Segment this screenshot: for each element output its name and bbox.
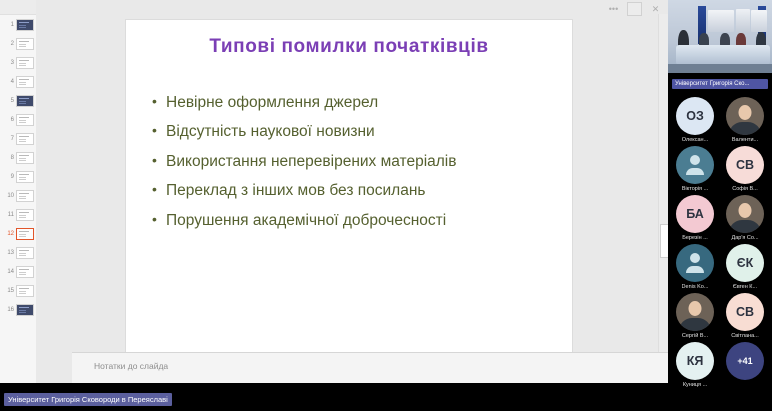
slide-thumbnail-item[interactable]: 4	[0, 72, 36, 91]
slide-number: 10	[2, 193, 14, 199]
slide-number: 2	[2, 41, 14, 47]
slide-thumbnail-strip[interactable]: 12345678910111213141516	[0, 0, 37, 383]
active-speaker-name-label: Університет Григорія Сковороди в Переясл…	[4, 393, 172, 406]
slide-thumbnail-preview[interactable]	[16, 38, 34, 50]
slide-number: 8	[2, 155, 14, 161]
slide-bullet: •Переклад з інших мов без посилань	[152, 180, 558, 201]
participant-name: Софія В...	[732, 186, 758, 192]
participant-name: Дар'я Со...	[731, 235, 758, 241]
slide-thumbnail-preview[interactable]	[16, 152, 34, 164]
slide-thumbnail-preview[interactable]	[16, 57, 34, 69]
banner-right	[751, 10, 767, 32]
canvas-window-controls[interactable]: ••• ✕	[607, 2, 662, 16]
slide-thumbnail-item[interactable]: 6	[0, 110, 36, 129]
bullet-dot-icon: •	[152, 210, 166, 229]
participant-tile[interactable]: Дар'я Со...	[720, 195, 770, 241]
slide-bullet: •Порушення академічної доброчесності	[152, 210, 558, 231]
slide-number: 1	[2, 22, 14, 28]
active-speaker-video-tile[interactable]	[668, 0, 772, 73]
bullet-dot-icon: •	[152, 151, 166, 170]
participant-name: Олексан...	[682, 137, 708, 143]
participant-tile[interactable]: КЯКуниця ...	[670, 342, 720, 388]
slide-thumbnail-preview[interactable]	[16, 95, 34, 107]
person-silhouette-icon[interactable]	[676, 244, 714, 282]
slide-thumbnail-preview[interactable]	[16, 247, 34, 259]
slide-number: 16	[2, 307, 14, 313]
slide-thumbnail-item[interactable]: 13	[0, 243, 36, 262]
slide-number: 6	[2, 117, 14, 123]
bullet-text: Переклад з інших мов без посилань	[166, 180, 558, 201]
overflow-count-avatar[interactable]: +41	[726, 342, 764, 380]
scrollbar-thumb[interactable]	[660, 224, 668, 258]
slide-thumbnail-item[interactable]: 10	[0, 186, 36, 205]
close-icon[interactable]: ✕	[649, 3, 662, 15]
slide-thumbnail-item[interactable]: 3	[0, 53, 36, 72]
slide-title: Типові помилки початківців	[126, 36, 572, 58]
participant-initials-avatar[interactable]: ЄК	[726, 244, 764, 282]
participant-name: Валенти...	[732, 137, 758, 143]
slide-number: 7	[2, 136, 14, 142]
slide-thumbnail-preview[interactable]	[16, 133, 34, 145]
participant-name: Сергій В...	[682, 333, 708, 339]
participant-initials-avatar[interactable]: ОЗ	[676, 97, 714, 135]
slide-thumbnail-item[interactable]: 9	[0, 167, 36, 186]
slide-canvas[interactable]: Типові помилки початківців •Невірне офор…	[126, 20, 572, 352]
presentation-editor: 12345678910111213141516 ••• ✕ Типові пом…	[0, 0, 668, 383]
slide-number: 11	[2, 212, 14, 218]
participant-name: Куниця ...	[683, 382, 707, 388]
slide-bullet: •Невірне оформлення джерел	[152, 92, 558, 113]
participants-panel: Університет Григорія Ско... ОЗОлексан...…	[668, 0, 772, 411]
org-name-badge: Університет Григорія Ско...	[672, 79, 768, 89]
slide-thumbnail-item[interactable]: 8	[0, 148, 36, 167]
slide-thumbnail-preview[interactable]	[16, 190, 34, 202]
participant-name: Березін ...	[682, 235, 708, 241]
slide-thumbnail-preview[interactable]	[16, 209, 34, 221]
slide-number: 9	[2, 174, 14, 180]
participant-tile[interactable]: Вікторія ...	[670, 146, 720, 192]
avatar-face	[689, 301, 702, 316]
bullet-dot-icon: •	[152, 180, 166, 199]
participant-name: Євген К...	[733, 284, 757, 290]
slide-bullet: •Відсутність наукової новизни	[152, 121, 558, 142]
bullet-text: Використання неперевірених матеріалів	[166, 151, 558, 172]
meeting-screen-share-window: 12345678910111213141516 ••• ✕ Типові пом…	[0, 0, 772, 411]
video-floor	[668, 64, 772, 73]
participant-initials-avatar[interactable]: СВ	[726, 293, 764, 331]
slide-thumbnail-preview[interactable]	[16, 171, 34, 183]
slide-thumbnail-preview[interactable]	[16, 19, 34, 31]
banner-left	[708, 10, 734, 32]
participant-tile[interactable]: БАБерезін ...	[670, 195, 720, 241]
participant-name: Світлана...	[731, 333, 758, 339]
slide-thumbnail-item[interactable]: 11	[0, 205, 36, 224]
bullet-dot-icon: •	[152, 121, 166, 140]
participant-photo-avatar[interactable]	[726, 195, 764, 233]
avatar-shoulders	[679, 318, 711, 331]
more-options-icon[interactable]: •••	[607, 3, 620, 15]
participant-photo-avatar[interactable]	[676, 293, 714, 331]
slide-number: 5	[2, 98, 14, 104]
slide-number: 14	[2, 269, 14, 275]
participant-name: Вікторія ...	[682, 186, 708, 192]
slide-bullet-list: •Невірне оформлення джерел•Відсутність н…	[152, 92, 558, 239]
participant-grid: ОЗОлексан...Валенти...Вікторія ...СВСофі…	[668, 91, 772, 388]
participant-tile[interactable]: СВСвітлана...	[720, 293, 770, 339]
bullet-dot-icon: •	[152, 92, 166, 111]
participant-tile[interactable]: Валенти...	[720, 97, 770, 143]
silhouette-head	[690, 155, 700, 165]
silhouette-head	[690, 253, 700, 263]
speaker-notes-placeholder: Нотатки до слайда	[94, 361, 168, 371]
slide-thumbnail-item[interactable]: 15	[0, 281, 36, 300]
slide-bullet: •Використання неперевірених матеріалів	[152, 151, 558, 172]
participant-tile[interactable]: ОЗОлексан...	[670, 97, 720, 143]
speaker-notes-pane[interactable]: Нотатки до слайда	[72, 352, 668, 383]
bottom-bar: Університет Григорія Сковороди в Переясл…	[0, 383, 668, 411]
participant-name: Denis Ko...	[682, 284, 709, 290]
restore-window-icon[interactable]	[627, 2, 642, 16]
slide-thumbnail-item[interactable]: 1	[0, 15, 36, 34]
slide-thumbnail-item[interactable]: 2	[0, 34, 36, 53]
bullet-text: Невірне оформлення джерел	[166, 92, 558, 113]
slide-thumbnail-preview[interactable]	[16, 114, 34, 126]
conference-table	[676, 45, 770, 65]
avatar-face	[739, 105, 752, 120]
slide-number: 4	[2, 79, 14, 85]
canvas-vertical-scrollbar[interactable]	[658, 14, 668, 353]
participant-tile[interactable]: +41	[720, 342, 770, 388]
avatar-face	[739, 203, 752, 218]
slide-thumbnail-preview[interactable]	[16, 76, 34, 88]
silhouette-body	[686, 266, 704, 273]
slide-thumbnail-item[interactable]: 5	[0, 91, 36, 110]
silhouette-body	[686, 168, 704, 175]
participant-initials-avatar[interactable]: СВ	[726, 146, 764, 184]
participant-tile[interactable]: Сергій В...	[670, 293, 720, 339]
person-silhouette-icon[interactable]	[676, 146, 714, 184]
participant-initials-avatar[interactable]: КЯ	[676, 342, 714, 380]
participant-initials-avatar[interactable]: БА	[676, 195, 714, 233]
slide-thumbnail-item[interactable]: 14	[0, 262, 36, 281]
participant-tile[interactable]: Denis Ko...	[670, 244, 720, 290]
slide-number: 3	[2, 60, 14, 66]
slide-thumbnail-preview[interactable]	[16, 228, 34, 240]
avatar-shoulders	[729, 220, 761, 233]
avatar-shoulders	[729, 122, 761, 135]
slide-thumbnail-item[interactable]: 7	[0, 129, 36, 148]
slide-thumbnail-preview[interactable]	[16, 304, 34, 316]
slide-number: 13	[2, 250, 14, 256]
participant-photo-avatar[interactable]	[726, 97, 764, 135]
slide-number: 15	[2, 288, 14, 294]
slide-canvas-area: ••• ✕ Типові помилки початківців •Невірн…	[36, 0, 668, 383]
participant-tile[interactable]: СВСофія В...	[720, 146, 770, 192]
slide-thumbnail-preview[interactable]	[16, 285, 34, 297]
banner-center	[736, 9, 750, 33]
slide-thumbnail-preview[interactable]	[16, 266, 34, 278]
bullet-text: Відсутність наукової новизни	[166, 121, 558, 142]
strip-header	[0, 0, 36, 15]
bullet-text: Порушення академічної доброчесності	[166, 210, 558, 231]
slide-thumbnail-item[interactable]: 12	[0, 224, 36, 243]
slide-number: 12	[2, 231, 14, 237]
slide-thumbnail-item[interactable]: 16	[0, 300, 36, 319]
participant-tile[interactable]: ЄКЄвген К...	[720, 244, 770, 290]
